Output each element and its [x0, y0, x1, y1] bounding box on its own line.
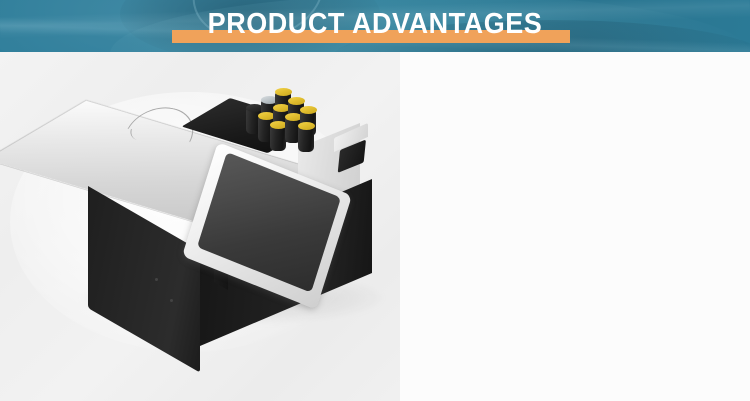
bullet-cap-icon: [288, 97, 305, 105]
bullet-cylinder: [298, 126, 314, 152]
product-advantages-banner: PRODUCT ADVANTAGES: [0, 0, 750, 401]
product-device-illustration: [72, 90, 372, 320]
features-panel: Multiple waveforms flat form/focus form/…: [400, 52, 750, 401]
bullet-cap-icon: [285, 113, 302, 121]
bullet-cap-icon: [298, 122, 315, 130]
page-title: PRODUCT ADVANTAGES: [26, 8, 724, 40]
content-area: Multiple waveforms flat form/focus form/…: [0, 52, 750, 401]
device-screw-dot-1: [155, 278, 158, 281]
bullet-cap-icon: [275, 88, 292, 96]
bullet-cylinder: [270, 125, 286, 151]
device-screw-dot-2: [170, 299, 173, 302]
bullet-cap-icon: [246, 104, 263, 112]
header-banner: PRODUCT ADVANTAGES: [0, 0, 750, 52]
product-image-panel: [0, 52, 400, 401]
header-title-group: PRODUCT ADVANTAGES: [0, 0, 750, 52]
bullet-cap-icon: [258, 112, 275, 120]
bullet-cap-icon: [270, 121, 287, 129]
bullet-cap-icon: [273, 104, 290, 112]
bullet-cap-icon: [300, 106, 317, 114]
